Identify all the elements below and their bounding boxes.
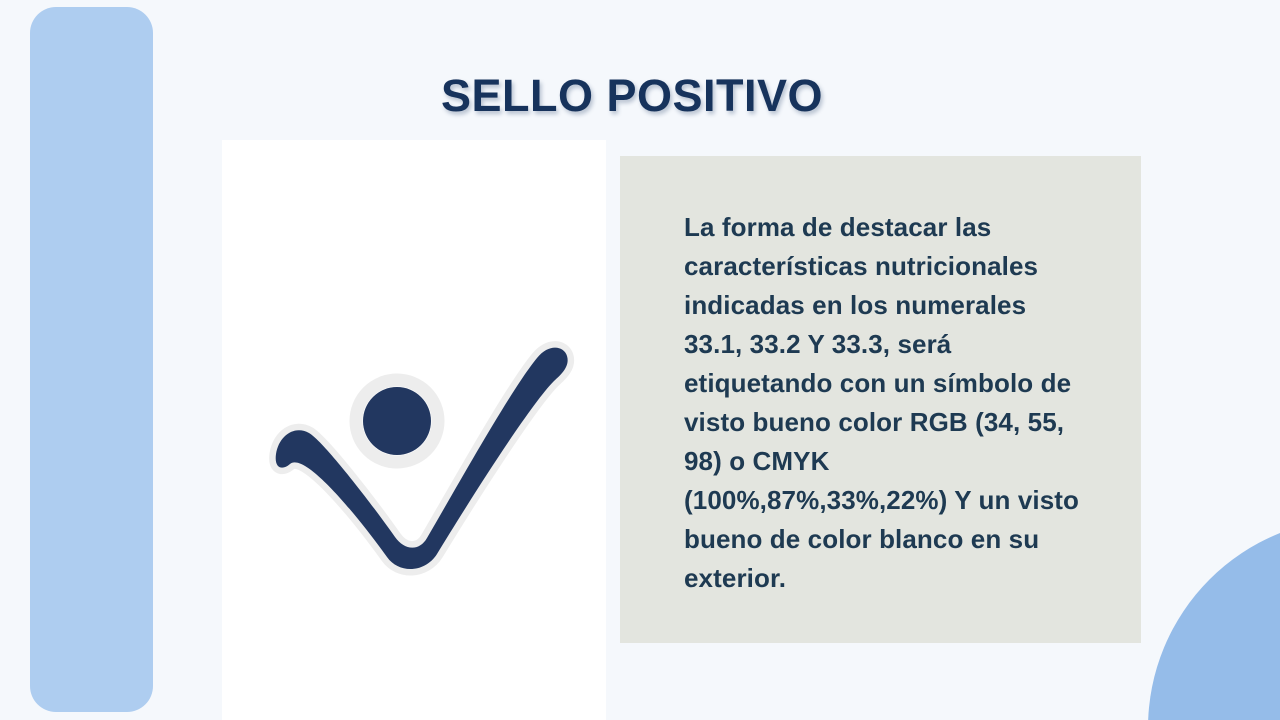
description-text: La forma de destacar las características… <box>684 208 1083 598</box>
left-accent-bar <box>30 7 153 712</box>
check-mark-seal-logo <box>249 286 579 576</box>
page-title: SELLO POSITIVO <box>441 68 823 124</box>
slide-canvas: SELLO POSITIVO La forma de destacar las … <box>0 0 1280 720</box>
logo-image-card <box>222 140 606 720</box>
description-panel: La forma de destacar las características… <box>620 156 1141 643</box>
bottom-right-circle-decoration <box>1148 518 1280 720</box>
